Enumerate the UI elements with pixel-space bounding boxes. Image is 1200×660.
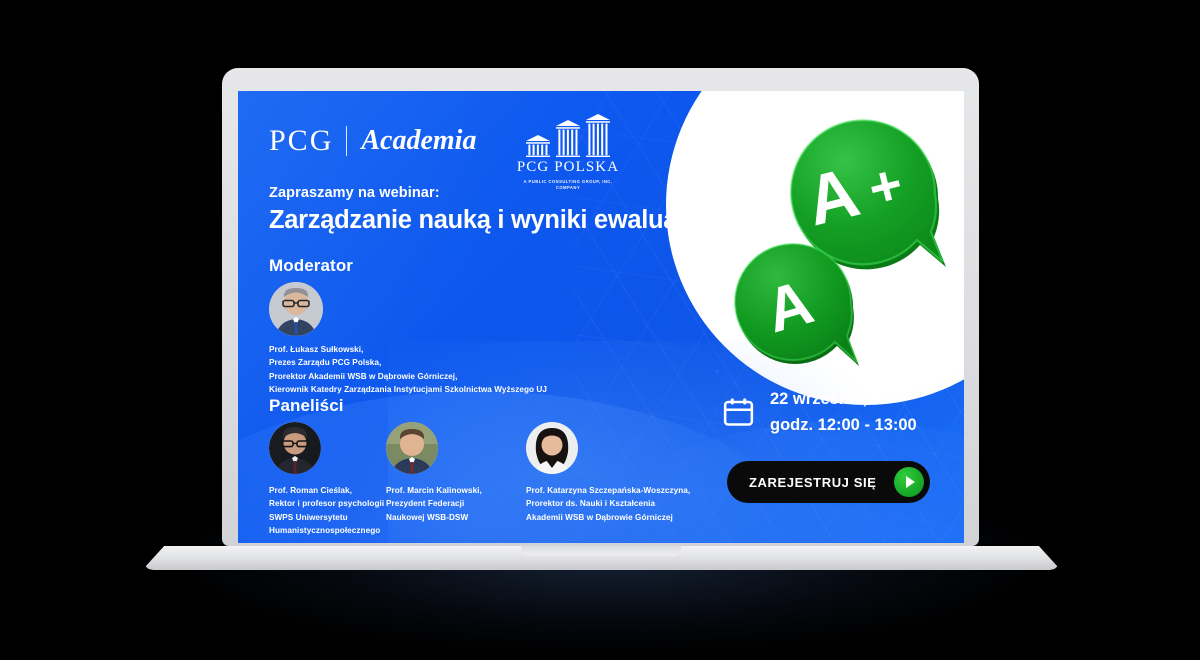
webinar-kicker: Zapraszamy na webinar:	[269, 185, 440, 201]
moderator-section-title: Moderator	[269, 256, 353, 276]
slide-content: PCG Academia	[238, 91, 964, 543]
register-button[interactable]: ZAREJESTRUJ SIĘ	[727, 461, 930, 503]
pcg-wordmark: PCG	[269, 126, 346, 156]
panelist-2-bio: Prof. Marcin Kalinowski, Prezydent Feder…	[386, 484, 511, 524]
page-title: Zarządzanie nauką i wyniki ewaluacji ucz…	[269, 206, 796, 235]
register-button-label: ZAREJESTRUJ SIĘ	[749, 475, 876, 490]
pcg-academia-logo: PCG Academia	[269, 126, 476, 156]
pcg-polska-logo: PCG POLSKA A PUBLIC CONSULTING GROUP, IN…	[513, 111, 623, 192]
academia-wordmark: Academia	[347, 127, 476, 155]
avatar-moderator	[269, 282, 323, 336]
play-triangle	[906, 476, 915, 488]
panelists-section-title: Paneliści	[269, 396, 344, 416]
canvas: PCG Academia	[0, 0, 1200, 660]
calendar-icon	[723, 397, 754, 428]
play-icon[interactable]	[894, 467, 924, 497]
grade-bubble-a: A	[725, 239, 865, 385]
pcg-polska-wordmark: PCG POLSKA	[513, 159, 623, 176]
moderator-bio: Prof. Łukasz Sułkowski, Prezes Zarządu P…	[269, 343, 689, 396]
panelist-3-bio: Prof. Katarzyna Szczepańska-Woszczyna, P…	[526, 484, 721, 524]
avatar-panelist-2	[386, 422, 438, 474]
laptop-base-notch	[521, 546, 681, 556]
laptop-screen: PCG Academia	[238, 91, 964, 543]
pcg-polska-tagline: A PUBLIC CONSULTING GROUP, INC. COMPANY	[513, 179, 623, 192]
schedule-block: 22 września, godz. 12:00 - 13:00	[723, 387, 917, 438]
panelist-1-bio: Prof. Roman Cieślak, Rektor i profesor p…	[269, 484, 389, 537]
schedule-date-time: 22 września, godz. 12:00 - 13:00	[770, 387, 917, 438]
avatar-panelist-3	[526, 422, 578, 474]
temple-columns-icon	[513, 111, 623, 157]
avatar-panelist-1	[269, 422, 321, 474]
